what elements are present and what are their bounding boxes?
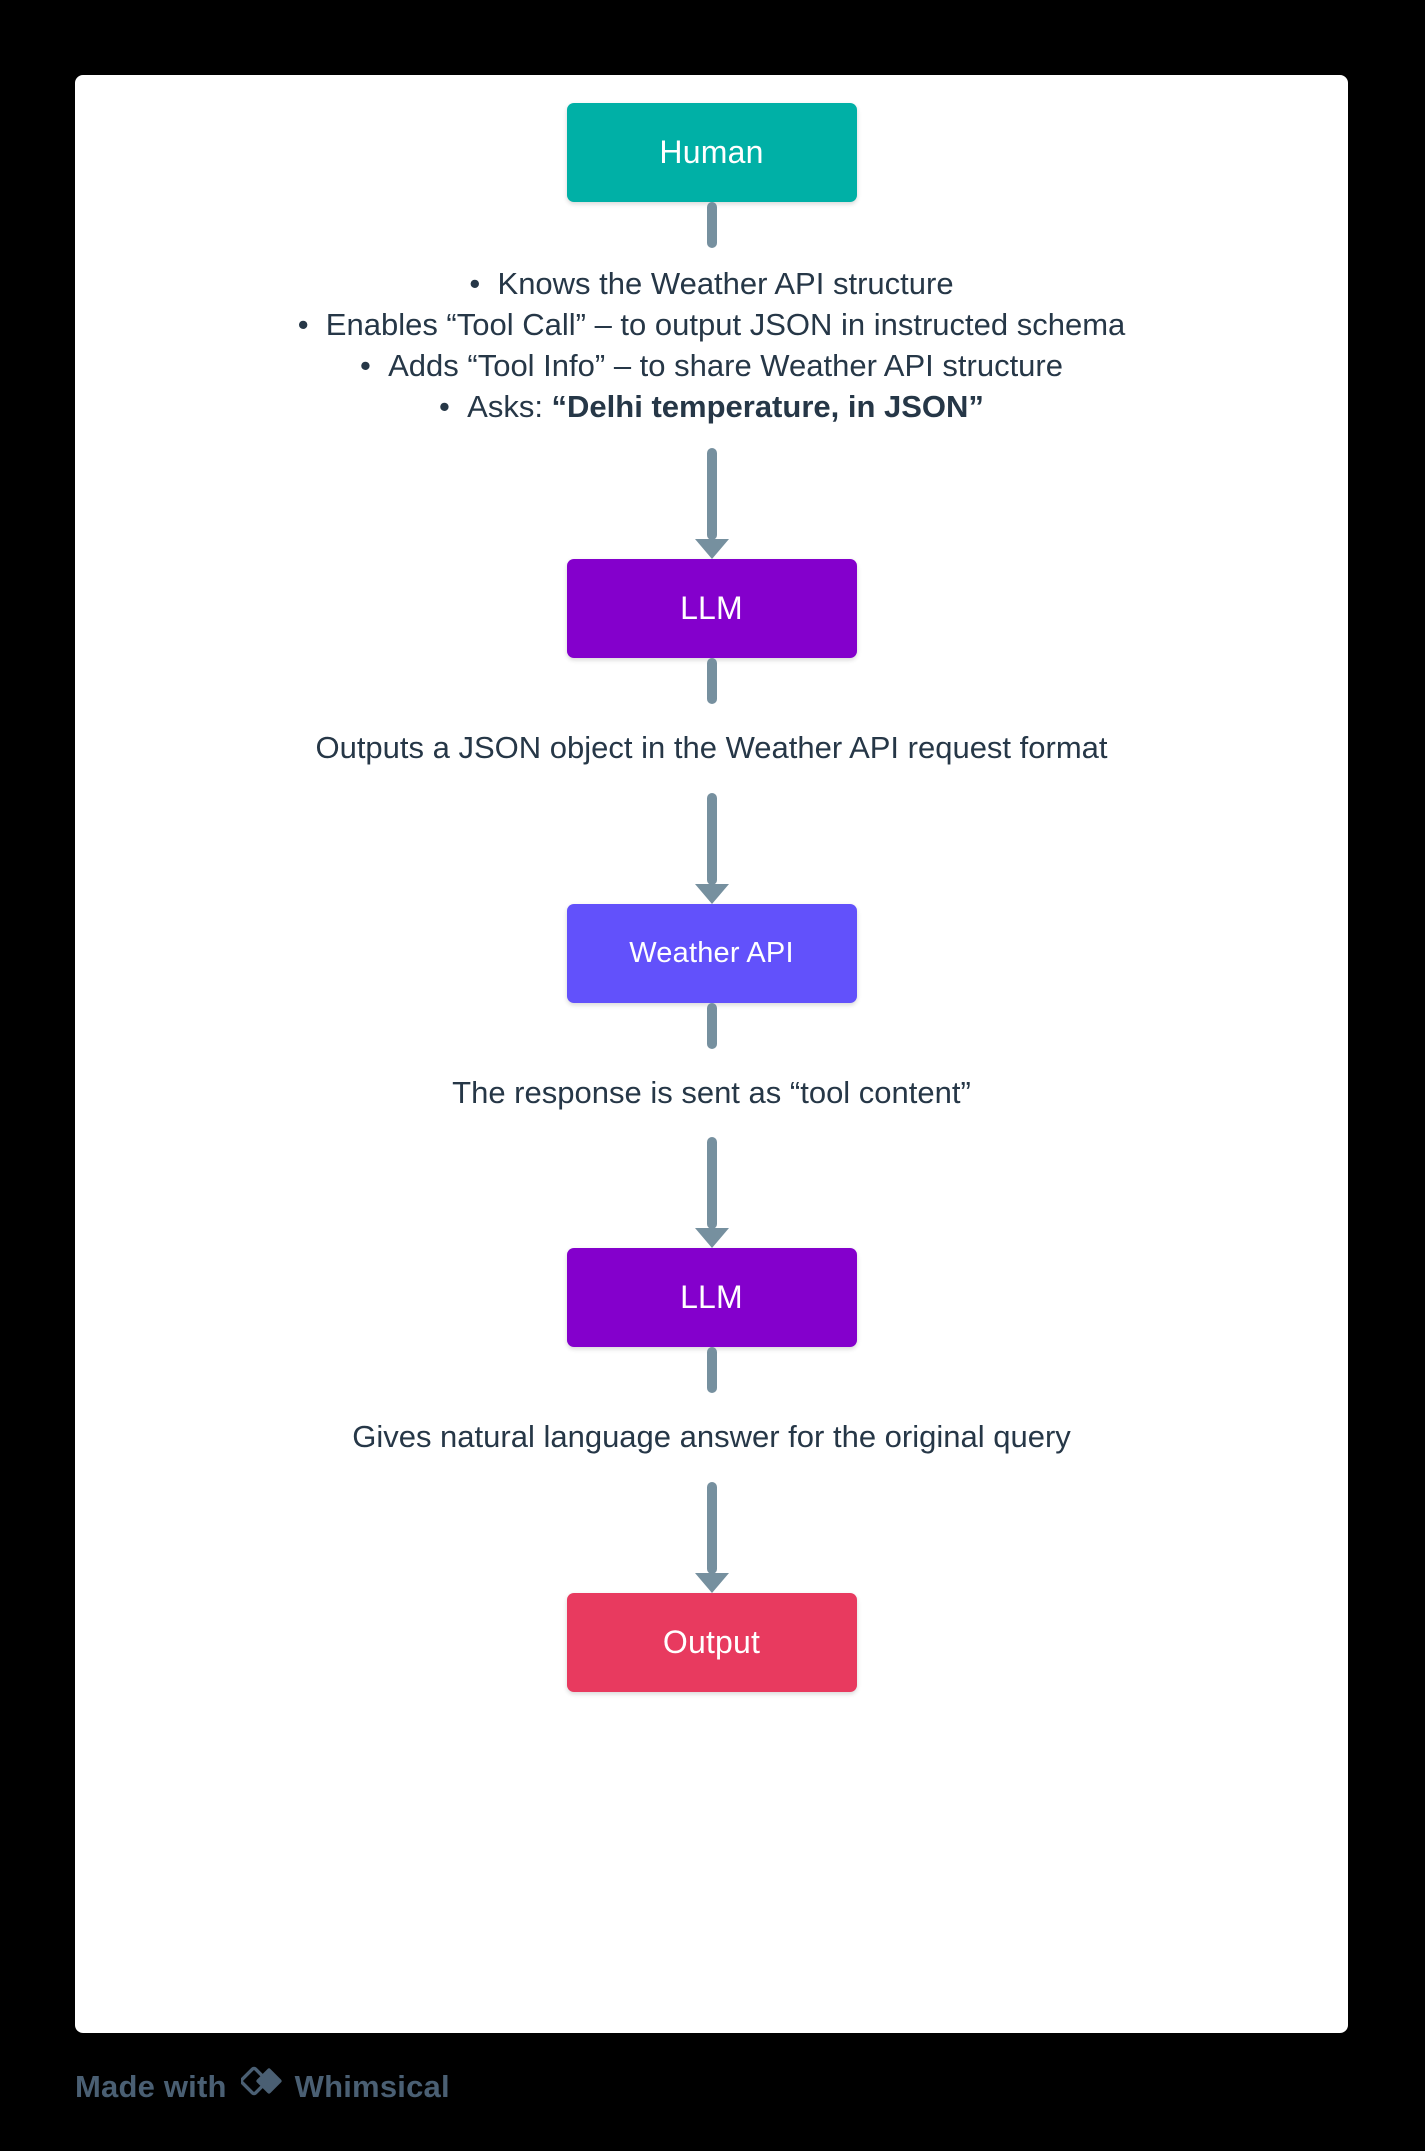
edge-label-llm2-to-output: Gives natural language answer for the or… xyxy=(352,1417,1071,1458)
list-item-emphasis: “Delhi temperature, in JSON” xyxy=(552,389,984,424)
bullet-icon: • xyxy=(469,266,497,301)
list-item: • Adds “Tool Info” – to share Weather AP… xyxy=(298,346,1126,387)
footer-attribution[interactable]: Made with Whimsical xyxy=(75,2062,450,2112)
whimsical-wordmark: Whimsical xyxy=(295,2069,450,2105)
connector-label-to-llm2 xyxy=(707,1137,717,1248)
list-item-label: Asks: xyxy=(467,389,551,424)
arrowhead-icon xyxy=(695,1573,729,1593)
arrowhead-icon xyxy=(695,539,729,559)
diagram-canvas: Human • Knows the Weather API structure … xyxy=(75,75,1348,2033)
connector-llm1-to-label xyxy=(707,658,717,704)
connector-label-to-output xyxy=(707,1482,717,1593)
arrowhead-icon xyxy=(695,1228,729,1248)
whimsical-brand[interactable]: Whimsical xyxy=(241,2065,450,2109)
human-notes-list: • Knows the Weather API structure • Enab… xyxy=(298,264,1126,428)
connector-human-to-notes xyxy=(707,202,717,248)
bullet-icon: • xyxy=(298,307,326,342)
node-output[interactable]: Output xyxy=(567,1593,857,1692)
list-item: • Asks: “Delhi temperature, in JSON” xyxy=(298,387,1126,428)
connector-stem xyxy=(707,448,717,540)
edge-label-llm1-to-weather: Outputs a JSON object in the Weather API… xyxy=(315,728,1107,769)
connector-notes-to-llm-1 xyxy=(707,448,717,559)
list-item-label: Adds “Tool Info” – to share Weather API … xyxy=(388,348,1063,383)
whimsical-logo-icon xyxy=(241,2065,285,2109)
list-item-label: Knows the Weather API structure xyxy=(498,266,954,301)
connector-llm2-to-label xyxy=(707,1347,717,1393)
connector-stem xyxy=(707,658,717,704)
connector-label-to-weather xyxy=(707,793,717,904)
list-item-label: Enables “Tool Call” – to output JSON in … xyxy=(326,307,1126,342)
connector-stem xyxy=(707,1347,717,1393)
edge-label-weather-to-llm2: The response is sent as “tool content” xyxy=(452,1073,971,1114)
connector-stem xyxy=(707,1003,717,1049)
list-item: • Enables “Tool Call” – to output JSON i… xyxy=(298,305,1126,346)
bullet-icon: • xyxy=(360,348,388,383)
diagram-root: Human • Knows the Weather API structure … xyxy=(0,0,1425,2151)
connector-stem xyxy=(707,1137,717,1229)
arrowhead-icon xyxy=(695,884,729,904)
list-item: • Knows the Weather API structure xyxy=(298,264,1126,305)
node-human[interactable]: Human xyxy=(567,103,857,202)
connector-weather-to-label xyxy=(707,1003,717,1049)
bullet-icon: • xyxy=(439,389,467,424)
connector-stem xyxy=(707,202,717,248)
connector-stem xyxy=(707,1482,717,1574)
flowchart: Human • Knows the Weather API structure … xyxy=(75,75,1348,2033)
connector-stem xyxy=(707,793,717,885)
node-llm-2[interactable]: LLM xyxy=(567,1248,857,1347)
footer-made-with-label: Made with xyxy=(75,2069,227,2105)
node-weather-api[interactable]: Weather API xyxy=(567,904,857,1003)
node-llm-1[interactable]: LLM xyxy=(567,559,857,658)
